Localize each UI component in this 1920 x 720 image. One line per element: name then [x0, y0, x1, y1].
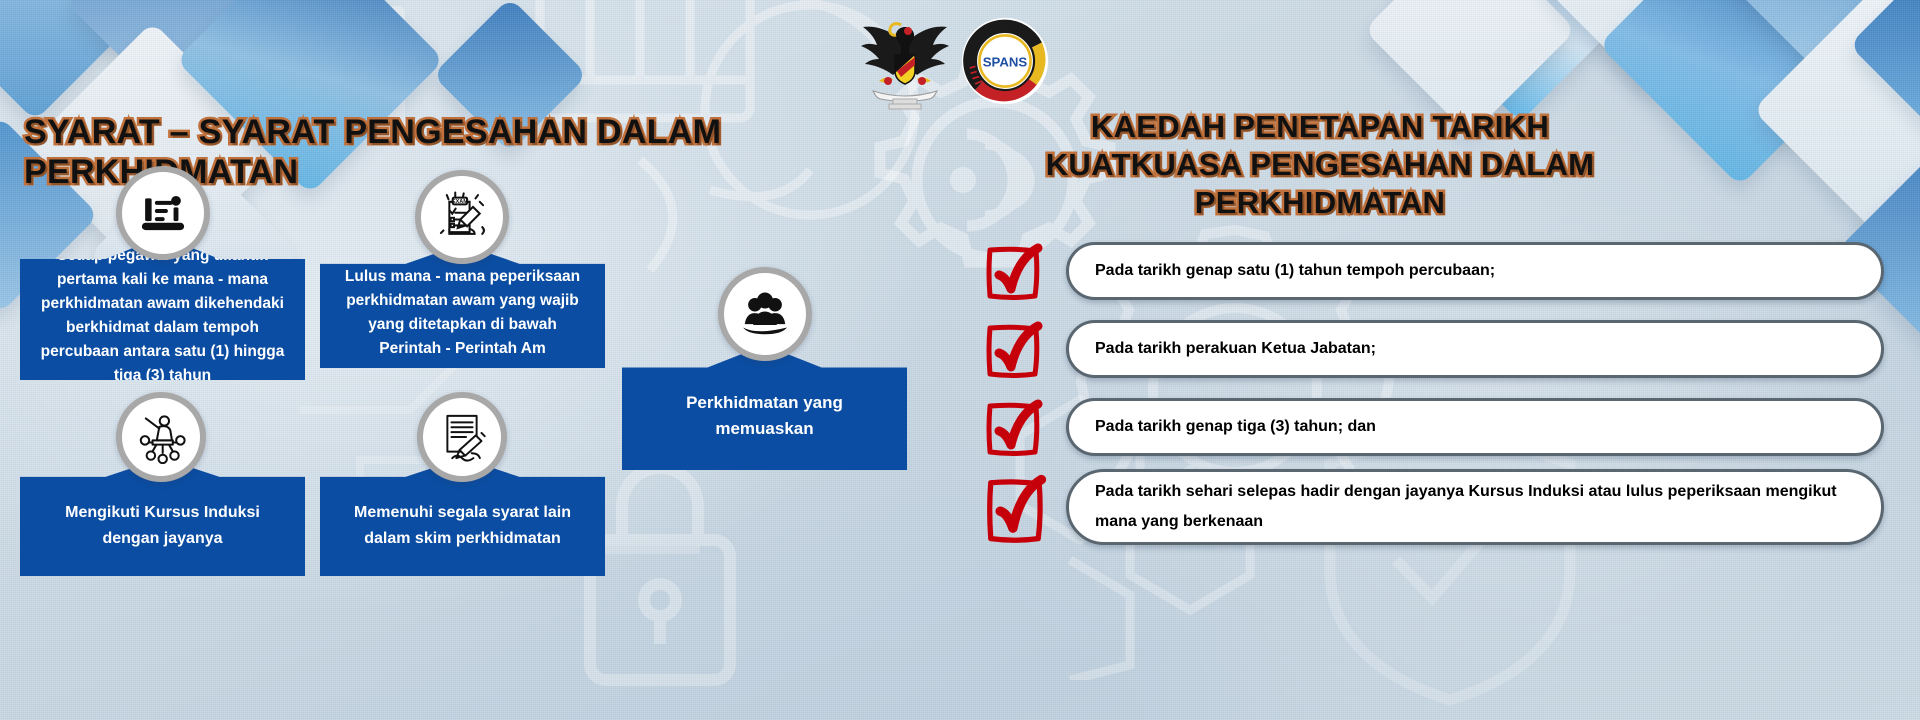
- checklist-row-3: Pada tarikh genap tiga (3) tahun; dan: [980, 394, 1900, 460]
- condition-card-4-text: Mengikuti Kursus Induksi dengan jayanya: [36, 482, 289, 552]
- svg-text:EXAM: EXAM: [452, 199, 468, 205]
- exam-clipboard-icon: EXAM: [435, 190, 489, 244]
- logo-row: SPANS: [855, 8, 1055, 113]
- checklist-pill-1: Pada tarikh genap satu (1) tahun tempoh …: [1066, 242, 1884, 300]
- svg-text:SPANS: SPANS: [983, 54, 1028, 69]
- red-check-icon: [980, 394, 1046, 460]
- training-presenter-icon: [134, 410, 188, 464]
- checklist-row-2: Pada tarikh perakuan Ketua Jabatan;: [980, 316, 1900, 382]
- signature-document-icon-badge: [417, 392, 507, 482]
- checklist-pill-2: Pada tarikh perakuan Ketua Jabatan;: [1066, 320, 1884, 378]
- red-check-icon: [980, 468, 1050, 546]
- checklist-pill-4: Pada tarikh sehari selepas hadir dengan …: [1066, 469, 1884, 545]
- sarawak-coat-of-arms-icon: [855, 11, 955, 111]
- people-group-icon: [738, 290, 792, 338]
- checklist-row-1: Pada tarikh genap satu (1) tahun tempoh …: [980, 238, 1900, 304]
- condition-card-2-text: Lulus mana - mana peperiksaan perkhidmat…: [336, 251, 589, 361]
- spans-logo-icon: SPANS: [961, 17, 1049, 105]
- checklist-text-1: Pada tarikh genap satu (1) tahun tempoh …: [1095, 258, 1495, 284]
- red-check-icon-1: [980, 238, 1046, 304]
- condition-card-3-text: Perkhidmatan yang memuaskan: [638, 374, 891, 442]
- page-title-right: KAEDAH PENETAPAN TARIKH KUATKUASA PENGES…: [1020, 108, 1620, 222]
- id-card-icon: [137, 187, 189, 239]
- red-check-icon: [980, 316, 1046, 382]
- red-check-icon: [980, 238, 1046, 304]
- condition-card-5-text: Memenuhi segala syarat lain dalam skim p…: [336, 482, 589, 552]
- people-group-icon-badge: [718, 267, 812, 361]
- red-check-icon-4: [980, 468, 1050, 546]
- red-check-icon-3: [980, 394, 1046, 460]
- red-check-icon-2: [980, 316, 1046, 382]
- checklist-row-4: Pada tarikh sehari selepas hadir dengan …: [980, 468, 1900, 546]
- signature-document-icon: [436, 411, 488, 463]
- checklist-text-2: Pada tarikh perakuan Ketua Jabatan;: [1095, 336, 1376, 362]
- exam-clipboard-icon-badge: EXAM: [415, 170, 509, 264]
- training-presenter-icon-badge: [116, 392, 206, 482]
- id-card-icon-badge: [116, 166, 210, 260]
- checklist-text-3: Pada tarikh genap tiga (3) tahun; dan: [1095, 414, 1376, 440]
- checklist-text-4: Pada tarikh sehari selepas hadir dengan …: [1095, 477, 1855, 537]
- checklist-pill-3: Pada tarikh genap tiga (3) tahun; dan: [1066, 398, 1884, 456]
